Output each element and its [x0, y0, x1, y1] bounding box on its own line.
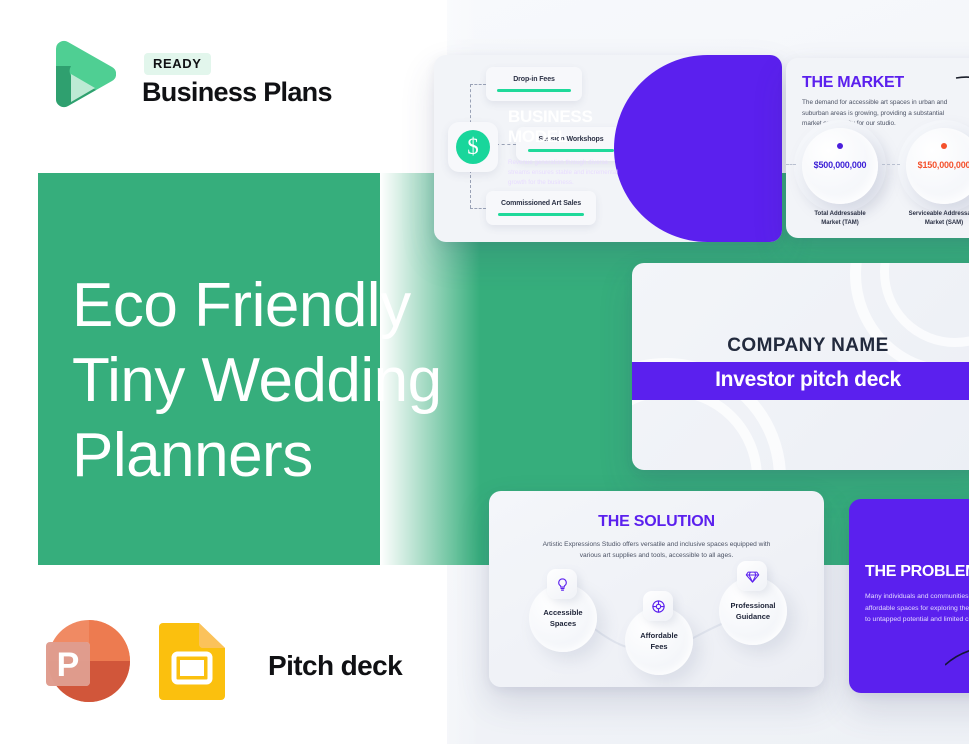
market-value-tam: $500,000,000: [799, 160, 881, 170]
solution-title: THE SOLUTION: [489, 513, 824, 531]
business-model-title: BUSINESS MODEL: [508, 107, 620, 147]
slide-business-model[interactable]: $ Drop-in Fees Session Workshops Commiss…: [434, 55, 782, 242]
slide-the-problem[interactable]: THE PROBLEM Many individuals and communi…: [849, 499, 969, 693]
play-triangle-logo-icon: [38, 36, 116, 120]
diamond-icon: [737, 561, 767, 591]
problem-title: THE PROBLEM: [865, 563, 969, 581]
problem-body: Many individuals and communities lack ac…: [865, 591, 969, 626]
node-underline: [528, 149, 614, 152]
market-dash: [882, 164, 900, 165]
lightbulb-icon: [547, 569, 577, 599]
slide-the-solution[interactable]: THE SOLUTION Artistic Expressions Studio…: [489, 491, 824, 687]
decorative-ring: [850, 263, 969, 377]
dollar-sign-icon: $: [456, 130, 490, 164]
target-icon: [643, 591, 673, 621]
solution-body: Artistic Expressions Studio offers versa…: [541, 539, 772, 561]
google-slides-icon[interactable]: [155, 622, 229, 700]
revenue-node: Drop-in Fees: [486, 67, 582, 101]
node-underline: [497, 89, 572, 92]
connector-line: [470, 84, 486, 85]
filetype-label: Pitch deck: [268, 650, 402, 682]
market-value-sam: $150,000,000: [903, 160, 969, 170]
market-dot: [941, 143, 947, 149]
business-model-body: Revenue generation through diverse strea…: [508, 158, 620, 188]
revenue-node-label: Drop-in Fees: [513, 76, 555, 83]
market-dash: [786, 164, 796, 165]
connector-line: [470, 208, 486, 209]
company-name: COMPANY NAME: [632, 335, 969, 357]
business-model-panel: [614, 55, 782, 242]
curved-arrow-icon: [954, 72, 969, 114]
problem-swoosh: [945, 639, 969, 669]
ready-badge: READY: [144, 53, 211, 75]
market-title: THE MARKET: [802, 74, 904, 92]
market-dot: [837, 143, 843, 149]
node-underline: [498, 213, 584, 216]
revenue-node-label: Commissioned Art Sales: [501, 200, 581, 207]
powerpoint-icon[interactable]: P: [40, 616, 130, 706]
company-subtitle: Investor pitch deck: [632, 368, 969, 392]
market-caption-sam: Serviceable Addressable Market (SAM): [896, 210, 969, 228]
brand-name: Business Plans: [142, 77, 332, 108]
slide-the-market[interactable]: THE MARKET The demand for accessible art…: [786, 58, 969, 238]
brand-logo[interactable]: READY Business Plans: [38, 36, 358, 122]
poster-root: READY Business Plans Eco Friendly Tiny W…: [0, 0, 969, 744]
hero-title: Eco Friendly Tiny Wedding Planners: [72, 268, 502, 493]
market-caption-tam: Total Addressable Market (TAM): [792, 210, 888, 228]
revenue-node: Commissioned Art Sales: [486, 191, 596, 225]
svg-text:P: P: [57, 646, 80, 684]
slide-company-title[interactable]: COMPANY NAME Investor pitch deck: [632, 263, 969, 470]
